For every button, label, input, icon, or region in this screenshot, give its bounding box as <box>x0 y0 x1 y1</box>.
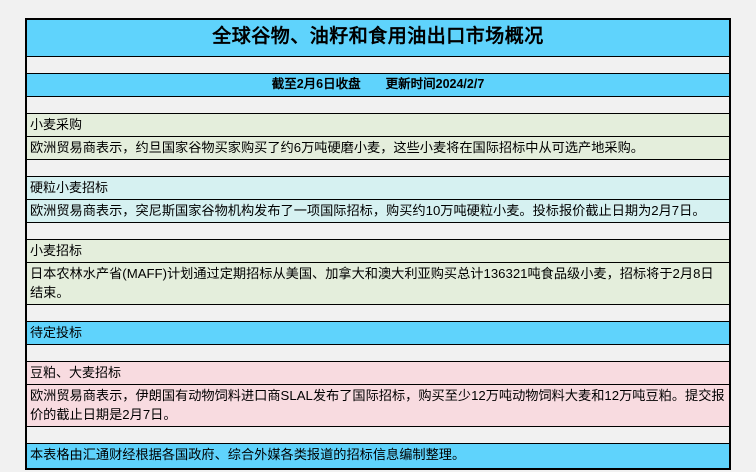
spacer-row-4 <box>27 223 729 240</box>
section-body-durum-tender: 欧洲贸易商表示，突尼斯国家谷物机构发布了一项国际招标，购买约10万吨硬粒小麦。投… <box>27 200 729 223</box>
section-heading-label: 小麦招标 <box>27 240 729 262</box>
section-heading-label: 待定投标 <box>27 322 729 344</box>
footer-row: 本表格由汇通财经根据各国政府、综合外媒各类报道的招标信息编制整理。 <box>27 444 729 468</box>
section-body-wheat-purchase: 欧洲贸易商表示，约旦国家谷物买家购买了约6万吨硬磨小麦，这些小麦将在国际招标中从… <box>27 137 729 160</box>
section-body-text: 欧洲贸易商表示，约旦国家谷物买家购买了约6万吨硬磨小麦，这些小麦将在国际招标中从… <box>27 137 729 159</box>
section-heading-wheat-purchase: 小麦采购 <box>27 114 729 137</box>
spacer-row-1 <box>27 57 729 74</box>
spacer-row-3 <box>27 160 729 177</box>
section-heading-label: 豆粕、大麦招标 <box>27 362 729 384</box>
section-heading-label: 小麦采购 <box>27 114 729 136</box>
section-body-text: 欧洲贸易商表示，伊朗国有动物饲料进口商SLAL发布了国际招标，购买至少12万吨动… <box>27 385 729 426</box>
spacer-cell <box>27 427 729 443</box>
spacer-row-6 <box>27 345 729 362</box>
page-title: 全球谷物、油籽和食用油出口市场概况 <box>27 20 729 56</box>
section-body-text: 日本农林水产省(MAFF)计划通过定期招标从美国、加拿大和澳大利亚购买总计136… <box>27 263 729 304</box>
spacer-row-5 <box>27 305 729 322</box>
section-body-wheat-tender: 日本农林水产省(MAFF)计划通过定期招标从美国、加拿大和澳大利亚购买总计136… <box>27 263 729 305</box>
section-heading-pending-tenders: 待定投标 <box>27 322 729 345</box>
spacer-cell <box>27 97 729 113</box>
spacer-cell <box>27 223 729 239</box>
subtitle-row: 截至2月6日收盘 更新时间2024/2/7 <box>27 74 729 97</box>
source-note: 本表格由汇通财经根据各国政府、综合外媒各类报道的招标信息编制整理。 <box>27 444 729 468</box>
title-row: 全球谷物、油籽和食用油出口市场概况 <box>27 20 729 57</box>
section-body-soymeal-barley-tender: 欧洲贸易商表示，伊朗国有动物饲料进口商SLAL发布了国际招标，购买至少12万吨动… <box>27 385 729 427</box>
spacer-cell <box>27 160 729 176</box>
market-overview-table: 全球谷物、油籽和食用油出口市场概况 截至2月6日收盘 更新时间2024/2/7 … <box>25 18 731 470</box>
section-heading-wheat-tender: 小麦招标 <box>27 240 729 263</box>
spacer-cell <box>27 305 729 321</box>
section-body-text: 欧洲贸易商表示，突尼斯国家谷物机构发布了一项国际招标，购买约10万吨硬粒小麦。投… <box>27 200 729 222</box>
spacer-cell <box>27 345 729 361</box>
spacer-cell <box>27 57 729 73</box>
spacer-row-2 <box>27 97 729 114</box>
timestamp-subtitle: 截至2月6日收盘 更新时间2024/2/7 <box>27 74 729 96</box>
section-heading-durum-tender: 硬粒小麦招标 <box>27 177 729 200</box>
section-heading-soymeal-barley-tender: 豆粕、大麦招标 <box>27 362 729 385</box>
spacer-row-7 <box>27 427 729 444</box>
section-heading-label: 硬粒小麦招标 <box>27 177 729 199</box>
